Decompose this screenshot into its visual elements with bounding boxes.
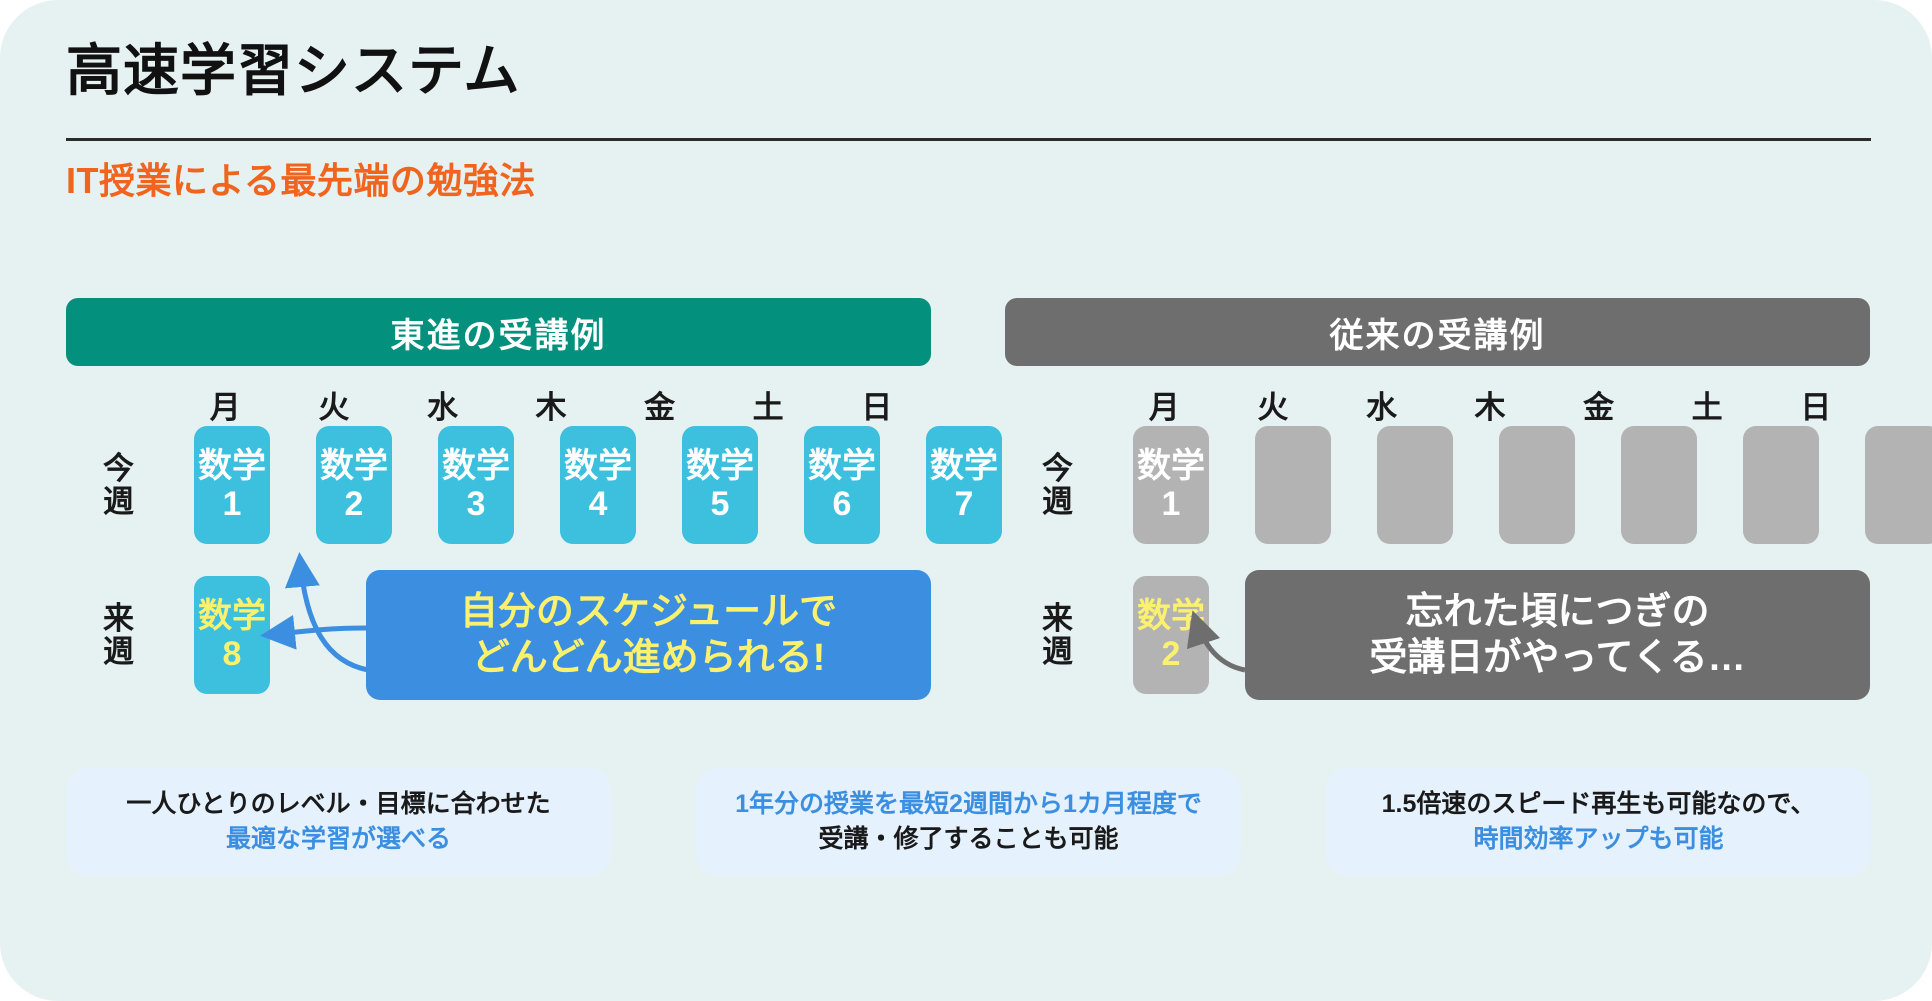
callout-toshin-line1: 自分のスケジュールで <box>460 589 837 635</box>
slot-sun <box>1842 426 1932 544</box>
lesson-number: 4 <box>589 487 608 521</box>
lesson-number: 1 <box>1162 487 1181 521</box>
panel-toshin-row-this-week: 今 週 数学 1 数学 2 数学 3 <box>66 426 931 544</box>
slot-fri: 数学 5 <box>659 426 781 544</box>
lesson-card-highlight[interactable]: 数学 2 <box>1133 576 1209 694</box>
benefit-note-line2: 受講・修了することも可能 <box>818 822 1118 858</box>
slot-fri <box>1598 426 1720 544</box>
callout-toshin: 自分のスケジュールで どんどん進められる! <box>366 570 931 700</box>
lesson-subject: 数学 <box>930 449 998 483</box>
lesson-card[interactable]: 数学 1 <box>1133 426 1209 544</box>
slot-mon: 数学 1 <box>1110 426 1232 544</box>
slot-sat: 数学 6 <box>781 426 903 544</box>
day-label-thu: 木 <box>1436 382 1545 427</box>
slot-tue: 数学 2 <box>293 426 415 544</box>
day-label-tue: 火 <box>1219 382 1328 427</box>
page-subtitle: IT授業による最先端の勉強法 <box>66 152 536 204</box>
lesson-subject: 数学 <box>564 449 632 483</box>
page-title: 高速学習システム <box>66 40 520 102</box>
row-label-this-week-line2: 週 <box>1042 485 1073 518</box>
lesson-card-highlight[interactable]: 数学 8 <box>194 576 270 694</box>
lesson-card-empty <box>1255 426 1331 544</box>
lesson-subject: 数学 <box>442 449 510 483</box>
slot-thu <box>1476 426 1598 544</box>
row-label-this-week-line1: 今 <box>103 452 134 485</box>
slot-mon: 数学 1 <box>171 426 293 544</box>
day-label-mon: 月 <box>1110 382 1219 427</box>
lesson-subject: 数学 <box>686 449 754 483</box>
row-label-this-week-line2: 週 <box>103 485 134 518</box>
slot-next-mon: 数学 8 <box>171 576 293 694</box>
benefit-note-line2: 時間効率アップも可能 <box>1473 822 1723 858</box>
lesson-number: 1 <box>223 487 242 521</box>
benefit-note-line1: 1年分の授業を最短2週間から1カ月程度で <box>735 787 1202 823</box>
row-label-this-week: 今 週 <box>1005 452 1110 519</box>
lesson-number: 2 <box>345 487 364 521</box>
day-label-sat: 土 <box>714 382 823 427</box>
lesson-card-empty <box>1865 426 1932 544</box>
panel-toshin-header: 東進の受講例 <box>66 298 931 366</box>
panel-conventional: 従来の受講例 月 火 水 木 金 土 日 今 週 数学 1 <box>1005 298 1870 366</box>
slot-tue <box>1232 426 1354 544</box>
lesson-number: 8 <box>223 637 242 671</box>
day-label-thu: 木 <box>497 382 606 427</box>
day-label-wed: 水 <box>1327 382 1436 427</box>
lesson-subject: 数学 <box>808 449 876 483</box>
infographic-canvas: 高速学習システム IT授業による最先端の勉強法 東進の受講例 月 火 水 木 金… <box>0 0 1932 1001</box>
benefit-note-line1: 一人ひとりのレベル・目標に合わせた <box>126 787 550 823</box>
slot-wed <box>1354 426 1476 544</box>
lesson-number: 2 <box>1162 637 1181 671</box>
row-label-next-week: 来 週 <box>66 602 171 669</box>
benefit-note: 1.5倍速のスピード再生も可能なので、 時間効率アップも可能 <box>1326 768 1871 876</box>
benefit-note-line2: 最適な学習が選べる <box>226 822 451 858</box>
slot-next-mon: 数学 2 <box>1110 576 1232 694</box>
callout-conventional-line1: 忘れた頃につぎの <box>1405 589 1709 635</box>
callout-toshin-line2: どんどん進められる! <box>472 635 826 681</box>
lesson-subject: 数学 <box>198 599 266 633</box>
lesson-card[interactable]: 数学 2 <box>316 426 392 544</box>
row-label-this-week-line1: 今 <box>1042 452 1073 485</box>
panel-toshin-day-header: 月 火 水 木 金 土 日 <box>171 382 931 427</box>
lesson-card-empty <box>1377 426 1453 544</box>
lesson-card[interactable]: 数学 4 <box>560 426 636 544</box>
lesson-card[interactable]: 数学 1 <box>194 426 270 544</box>
slot-sat <box>1720 426 1842 544</box>
lesson-number: 5 <box>711 487 730 521</box>
day-label-sat: 土 <box>1653 382 1762 427</box>
lesson-subject: 数学 <box>198 449 266 483</box>
day-label-fri: 金 <box>605 382 714 427</box>
row-label-next-week-line2: 週 <box>103 635 134 668</box>
row-label-next-week-line2: 週 <box>1042 635 1073 668</box>
title-divider <box>66 138 1871 141</box>
benefit-notes: 一人ひとりのレベル・目標に合わせた 最適な学習が選べる 1年分の授業を最短2週間… <box>66 768 1871 876</box>
callout-conventional-line2: 受講日がやってくる… <box>1369 635 1745 681</box>
lesson-subject: 数学 <box>1137 599 1205 633</box>
day-label-sun: 日 <box>1761 382 1870 427</box>
day-label-sun: 日 <box>822 382 931 427</box>
row-label-next-week: 来 週 <box>1005 602 1110 669</box>
lesson-card-empty <box>1499 426 1575 544</box>
benefit-note-line1: 1.5倍速のスピード再生も可能なので、 <box>1382 787 1816 823</box>
lesson-card[interactable]: 数学 7 <box>926 426 1002 544</box>
lesson-number: 6 <box>833 487 852 521</box>
day-label-mon: 月 <box>171 382 280 427</box>
lesson-card[interactable]: 数学 6 <box>804 426 880 544</box>
day-label-wed: 水 <box>388 382 497 427</box>
lesson-number: 7 <box>955 487 974 521</box>
row-label-this-week: 今 週 <box>66 452 171 519</box>
lesson-subject: 数学 <box>320 449 388 483</box>
lesson-number: 3 <box>467 487 486 521</box>
day-label-fri: 金 <box>1544 382 1653 427</box>
lesson-card-empty <box>1621 426 1697 544</box>
row-label-next-week-line1: 来 <box>1042 602 1073 635</box>
benefit-note: 1年分の授業を最短2週間から1カ月程度で 受講・修了することも可能 <box>696 768 1241 876</box>
benefit-note: 一人ひとりのレベル・目標に合わせた 最適な学習が選べる <box>66 768 611 876</box>
lesson-card-empty <box>1743 426 1819 544</box>
lesson-card[interactable]: 数学 3 <box>438 426 514 544</box>
lesson-card[interactable]: 数学 5 <box>682 426 758 544</box>
row-label-next-week-line1: 来 <box>103 602 134 635</box>
panel-toshin: 東進の受講例 月 火 水 木 金 土 日 今 週 数学 1 <box>66 298 931 366</box>
panel-conventional-header: 従来の受講例 <box>1005 298 1870 366</box>
panel-conventional-row-this-week: 今 週 数学 1 <box>1005 426 1870 544</box>
callout-conventional: 忘れた頃につぎの 受講日がやってくる… <box>1245 570 1870 700</box>
panel-conventional-day-header: 月 火 水 木 金 土 日 <box>1110 382 1870 427</box>
lesson-subject: 数学 <box>1137 449 1205 483</box>
day-label-tue: 火 <box>280 382 389 427</box>
slot-wed: 数学 3 <box>415 426 537 544</box>
slot-thu: 数学 4 <box>537 426 659 544</box>
